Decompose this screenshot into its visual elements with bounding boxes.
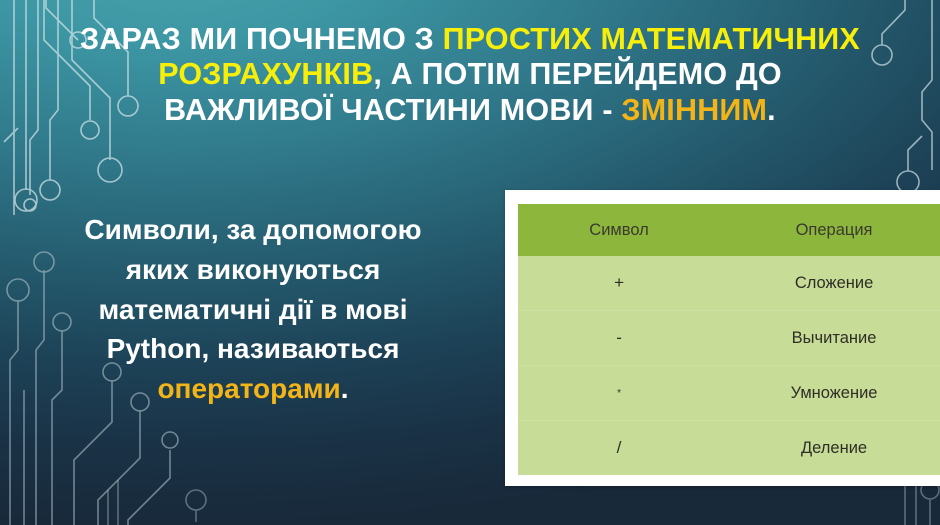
cell-symbol-multiply: * (617, 388, 621, 399)
cell-symbol: * (518, 366, 720, 421)
body-line-5: операторами. (18, 369, 488, 409)
cell-symbol: / (518, 421, 720, 476)
cell-symbol: - (518, 311, 720, 366)
title-part-2: , а потім (373, 57, 520, 91)
cell-operation: Сложение (720, 256, 940, 311)
body-paragraph: Символи, за допомогою яких виконуються м… (18, 210, 488, 409)
cell-operation: Вычитание (720, 311, 940, 366)
title-part-4: мови - (500, 93, 622, 127)
slide: Зараз ми почнемо з простих математичних … (0, 0, 940, 525)
cell-operation: Деление (720, 421, 940, 476)
cell-operation: Умножение (720, 366, 940, 421)
body-line-2: яких виконуються (18, 250, 488, 290)
body-line-1: Символи, за допомогою (18, 210, 488, 250)
table-row: + Сложение (518, 256, 940, 311)
title-highlight-3: змінним (621, 93, 767, 127)
cell-symbol: + (518, 256, 720, 311)
table-row: * Умножение (518, 366, 940, 421)
table-header: Символ Операция (518, 204, 940, 256)
operators-table-frame: Символ Операция + Сложение - Вычитание *… (505, 190, 940, 486)
body-line-4: Python, називаються (18, 329, 488, 369)
title-highlight-1: простих (443, 22, 592, 56)
title-part-1: Зараз ми почнемо з (80, 22, 443, 56)
table-body: + Сложение - Вычитание * Умножение / Дел… (518, 256, 940, 475)
header-operation: Операция (720, 204, 940, 256)
body-line-3: математичні дії в мові (18, 290, 488, 330)
body-highlight: операторами (157, 373, 340, 404)
table-header-row: Символ Операция (518, 204, 940, 256)
operators-table: Символ Операция + Сложение - Вычитание *… (518, 204, 940, 475)
body-line-5-end: . (341, 373, 349, 404)
header-symbol: Символ (518, 204, 720, 256)
slide-title: Зараз ми почнемо з простих математичних … (70, 22, 870, 128)
table-row: / Деление (518, 421, 940, 476)
title-part-5: . (767, 93, 776, 127)
table-row: - Вычитание (518, 311, 940, 366)
